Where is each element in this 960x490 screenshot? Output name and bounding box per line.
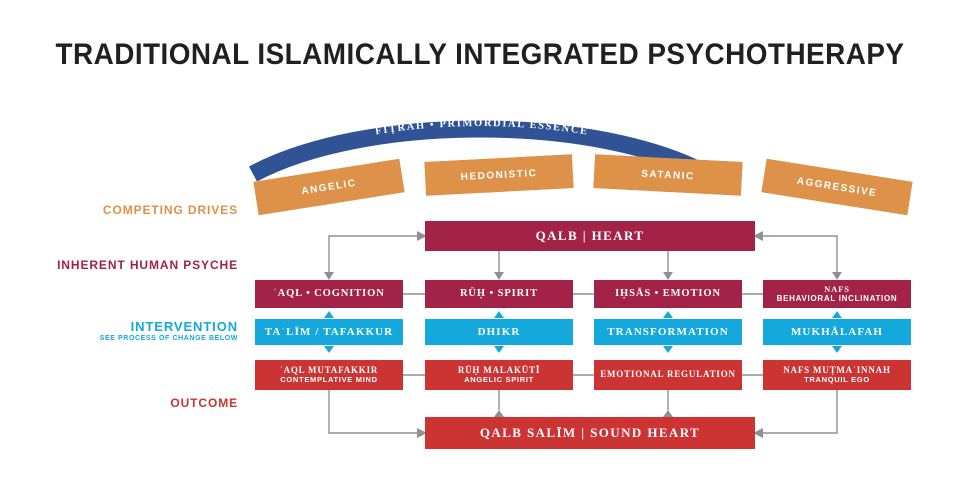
- intervention-label: TRANSFORMATION: [607, 326, 729, 338]
- arrow-down-col2-psyche: [663, 272, 673, 280]
- page-title: TRADITIONAL ISLAMICALLY INTEGRATED PSYCH…: [34, 38, 927, 72]
- intervention-box-dhikr[interactable]: DHIKR: [425, 319, 573, 345]
- qalb-salim-label: QALB SALĪM | SOUND HEART: [480, 426, 700, 440]
- arrow-down-col0-outcome: [324, 346, 334, 353]
- outcome-box-ruh-malakuti[interactable]: RŪḤ MALAKŪTĪ ANGELIC SPIRIT: [425, 360, 573, 390]
- arrow-up-col3-intervention: [832, 311, 842, 318]
- arrow-up-into-qalbsalim-col2: [663, 410, 673, 417]
- row-label-inherent-human-psyche: INHERENT HUMAN PSYCHE: [57, 258, 238, 272]
- qalb-heart-label: QALB | HEART: [536, 229, 645, 243]
- drive-label: AGGRESSIVE: [761, 159, 912, 216]
- connector-col0-to-qalb: [329, 236, 417, 272]
- outcome-label-line2: CONTEMPLATIVE MIND: [280, 376, 377, 385]
- psyche-box-ruh[interactable]: RŪḤ • SPIRIT: [425, 280, 573, 308]
- qalb-salim-bar[interactable]: QALB SALĪM | SOUND HEART: [425, 417, 755, 449]
- outcome-box-emotional-regulation[interactable]: EMOTIONAL REGULATION: [594, 360, 742, 390]
- arrow-down-col0-psyche: [324, 272, 334, 280]
- psyche-label-line2: BEHAVIORAL INCLINATION: [777, 294, 898, 303]
- outcome-label-line1: EMOTIONAL REGULATION: [600, 370, 736, 380]
- psyche-box-aql[interactable]: ʿAQL • COGNITION: [255, 280, 403, 308]
- intervention-box-transformation[interactable]: TRANSFORMATION: [594, 319, 742, 345]
- row-label-intervention-text: INTERVENTION: [131, 319, 238, 334]
- row-label-intervention: INTERVENTION SEE PROCESS OF CHANGE BELOW: [100, 319, 238, 342]
- intervention-box-mukhalafah[interactable]: MUKHĀLAFAH: [763, 319, 911, 345]
- connector-col3-to-qalbsalim: [763, 390, 837, 433]
- connector-col0-to-qalbsalim: [329, 390, 417, 433]
- arrow-down-col2-outcome: [663, 346, 673, 353]
- psyche-label-line1: ʿAQL • COGNITION: [273, 288, 384, 300]
- row-label-intervention-subtitle: SEE PROCESS OF CHANGE BELOW: [100, 335, 238, 342]
- outcome-label-line2: ANGELIC SPIRIT: [464, 376, 534, 385]
- psyche-label-line1: NAFS: [824, 285, 850, 294]
- qalb-heart-bar[interactable]: QALB | HEART: [425, 221, 755, 251]
- outcome-box-nafs-mutmainnah[interactable]: NAFS MUṬMAʾINNAH TRANQUIL EGO: [763, 360, 911, 390]
- drive-label: SATANIC: [593, 154, 743, 196]
- arrow-up-into-qalbsalim-col1: [494, 410, 504, 417]
- connector-col3-to-qalb: [763, 236, 837, 272]
- psyche-box-nafs[interactable]: NAFS BEHAVIORAL INCLINATION: [763, 280, 911, 308]
- arrow-down-col3-outcome: [832, 346, 842, 353]
- psyche-label-line1: RŪḤ • SPIRIT: [460, 288, 538, 300]
- arrow-up-col2-intervention: [663, 311, 673, 318]
- drive-box-hedonistic[interactable]: HEDONISTIC: [424, 154, 574, 196]
- row-label-outcome: OUTCOME: [170, 396, 238, 410]
- drive-label: HEDONISTIC: [424, 154, 574, 196]
- intervention-box-talim-tafakkur[interactable]: TAʿLĪM / TAFAKKUR: [255, 319, 403, 345]
- arrow-up-col1-intervention: [494, 311, 504, 318]
- intervention-label: DHIKR: [478, 326, 521, 338]
- psyche-box-ihsas[interactable]: IḤSĀS • EMOTION: [594, 280, 742, 308]
- arrow-down-col1-psyche: [494, 272, 504, 280]
- intervention-label: MUKHĀLAFAH: [791, 326, 883, 338]
- outcome-box-aql-mutafakkir[interactable]: ʿAQL MUTAFAKKIR CONTEMPLATIVE MIND: [255, 360, 403, 390]
- drive-box-satanic[interactable]: SATANIC: [593, 154, 743, 196]
- intervention-label: TAʿLĪM / TAFAKKUR: [265, 326, 394, 338]
- arrow-up-col0-intervention: [324, 311, 334, 318]
- outcome-label-line2: TRANQUIL EGO: [804, 376, 870, 385]
- row-label-competing-drives: COMPETING DRIVES: [103, 203, 238, 217]
- psyche-label-line1: IḤSĀS • EMOTION: [615, 288, 721, 300]
- arrow-down-col1-outcome: [494, 346, 504, 353]
- diagram-canvas: TRADITIONAL ISLAMICALLY INTEGRATED PSYCH…: [0, 0, 960, 490]
- arrow-down-col3-psyche: [832, 272, 842, 280]
- drive-box-aggressive[interactable]: AGGRESSIVE: [761, 159, 912, 216]
